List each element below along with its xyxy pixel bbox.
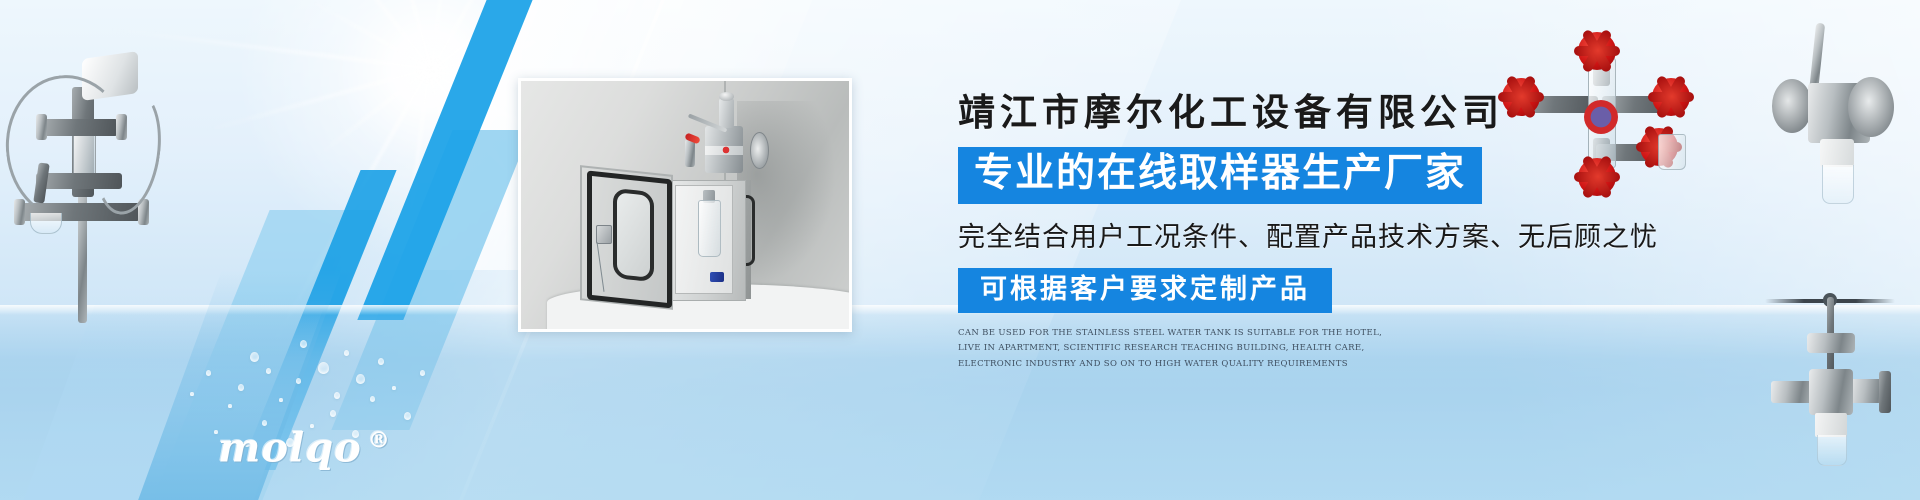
small-valve-body [1809,369,1853,415]
sunburst-ray [430,0,546,71]
water-droplet [238,384,244,391]
product-photo[interactable] [518,78,852,332]
company-name: 靖江市摩尔化工设备有限公司 [958,92,1658,133]
sunburst-ray [208,67,430,131]
small-valve-render [1775,285,1915,460]
valve-logo-seal [722,144,731,156]
cross-collection-jar [1658,134,1686,170]
water-droplet [378,358,384,365]
brand-watermark: molqo® [218,425,391,472]
cabinet-door-lock [596,225,611,244]
water-droplet [330,410,336,417]
sunburst-ray [430,0,684,72]
registered-trademark-icon: ® [368,427,391,453]
sample-bottle-cap [710,272,725,282]
tagline-badge: 可根据客户要求定制产品 [958,268,1332,313]
headline-badge: 专业的在线取样器生产厂家 [958,147,1482,204]
small-valve-flange-right [1879,371,1891,413]
water-droplet [318,362,329,374]
lever-valve-render [1760,25,1910,225]
english-description: CAN BE USED FOR THE STAINLESS STEEL WATE… [958,326,1390,373]
water-droplet [344,350,349,356]
promotional-banner: 靖江市摩尔化工设备有限公司 专业的在线取样器生产厂家 完全结合用户工况条件、配置… [0,0,1920,500]
sunburst-ray [427,70,467,206]
sunburst-ray [308,0,431,70]
water-droplet [206,370,211,376]
water-droplet [300,340,307,348]
water-droplet [370,396,375,402]
banner-copy: 靖江市摩尔化工设备有限公司 专业的在线取样器生产厂家 完全结合用户工况条件、配置… [958,92,1658,373]
sunburst-ray [288,0,432,70]
sunburst-ray [430,33,566,73]
valve-flange-right [750,132,769,170]
cabinet-door-window [613,188,654,282]
watermark-text: molqo [218,425,362,472]
lever-outlet-cap [1820,139,1854,167]
subline-text: 完全结合用户工况条件、配置产品技术方案、无后顾之忧 [958,221,1658,253]
water-droplet [420,370,425,376]
lever-flange-left [1772,79,1812,133]
sunburst-ray [318,68,430,157]
flange-left-lower [14,199,25,225]
handwheel-top [1578,32,1616,70]
water-droplet [356,374,365,384]
lever-flange-right [1848,77,1894,137]
sunburst-ray [430,0,450,70]
small-valve-outlet-cap [1815,413,1847,437]
sample-bottle [698,200,721,257]
sampling-valve-assembly [685,96,770,185]
left-equipment-render [0,25,165,320]
water-droplet [266,368,271,374]
water-droplet [250,352,259,362]
water-droplet [404,412,411,420]
water-droplet [296,378,301,384]
small-valve-collar [1807,333,1855,353]
water-droplet [334,392,340,399]
lever-sample-glass [1822,165,1854,204]
small-valve-sample-glass [1817,435,1847,466]
sunburst-ray [399,70,430,299]
sunburst-ray [344,0,432,70]
valve-bonnet [719,98,734,128]
small-valve-arm-left [1771,381,1813,403]
